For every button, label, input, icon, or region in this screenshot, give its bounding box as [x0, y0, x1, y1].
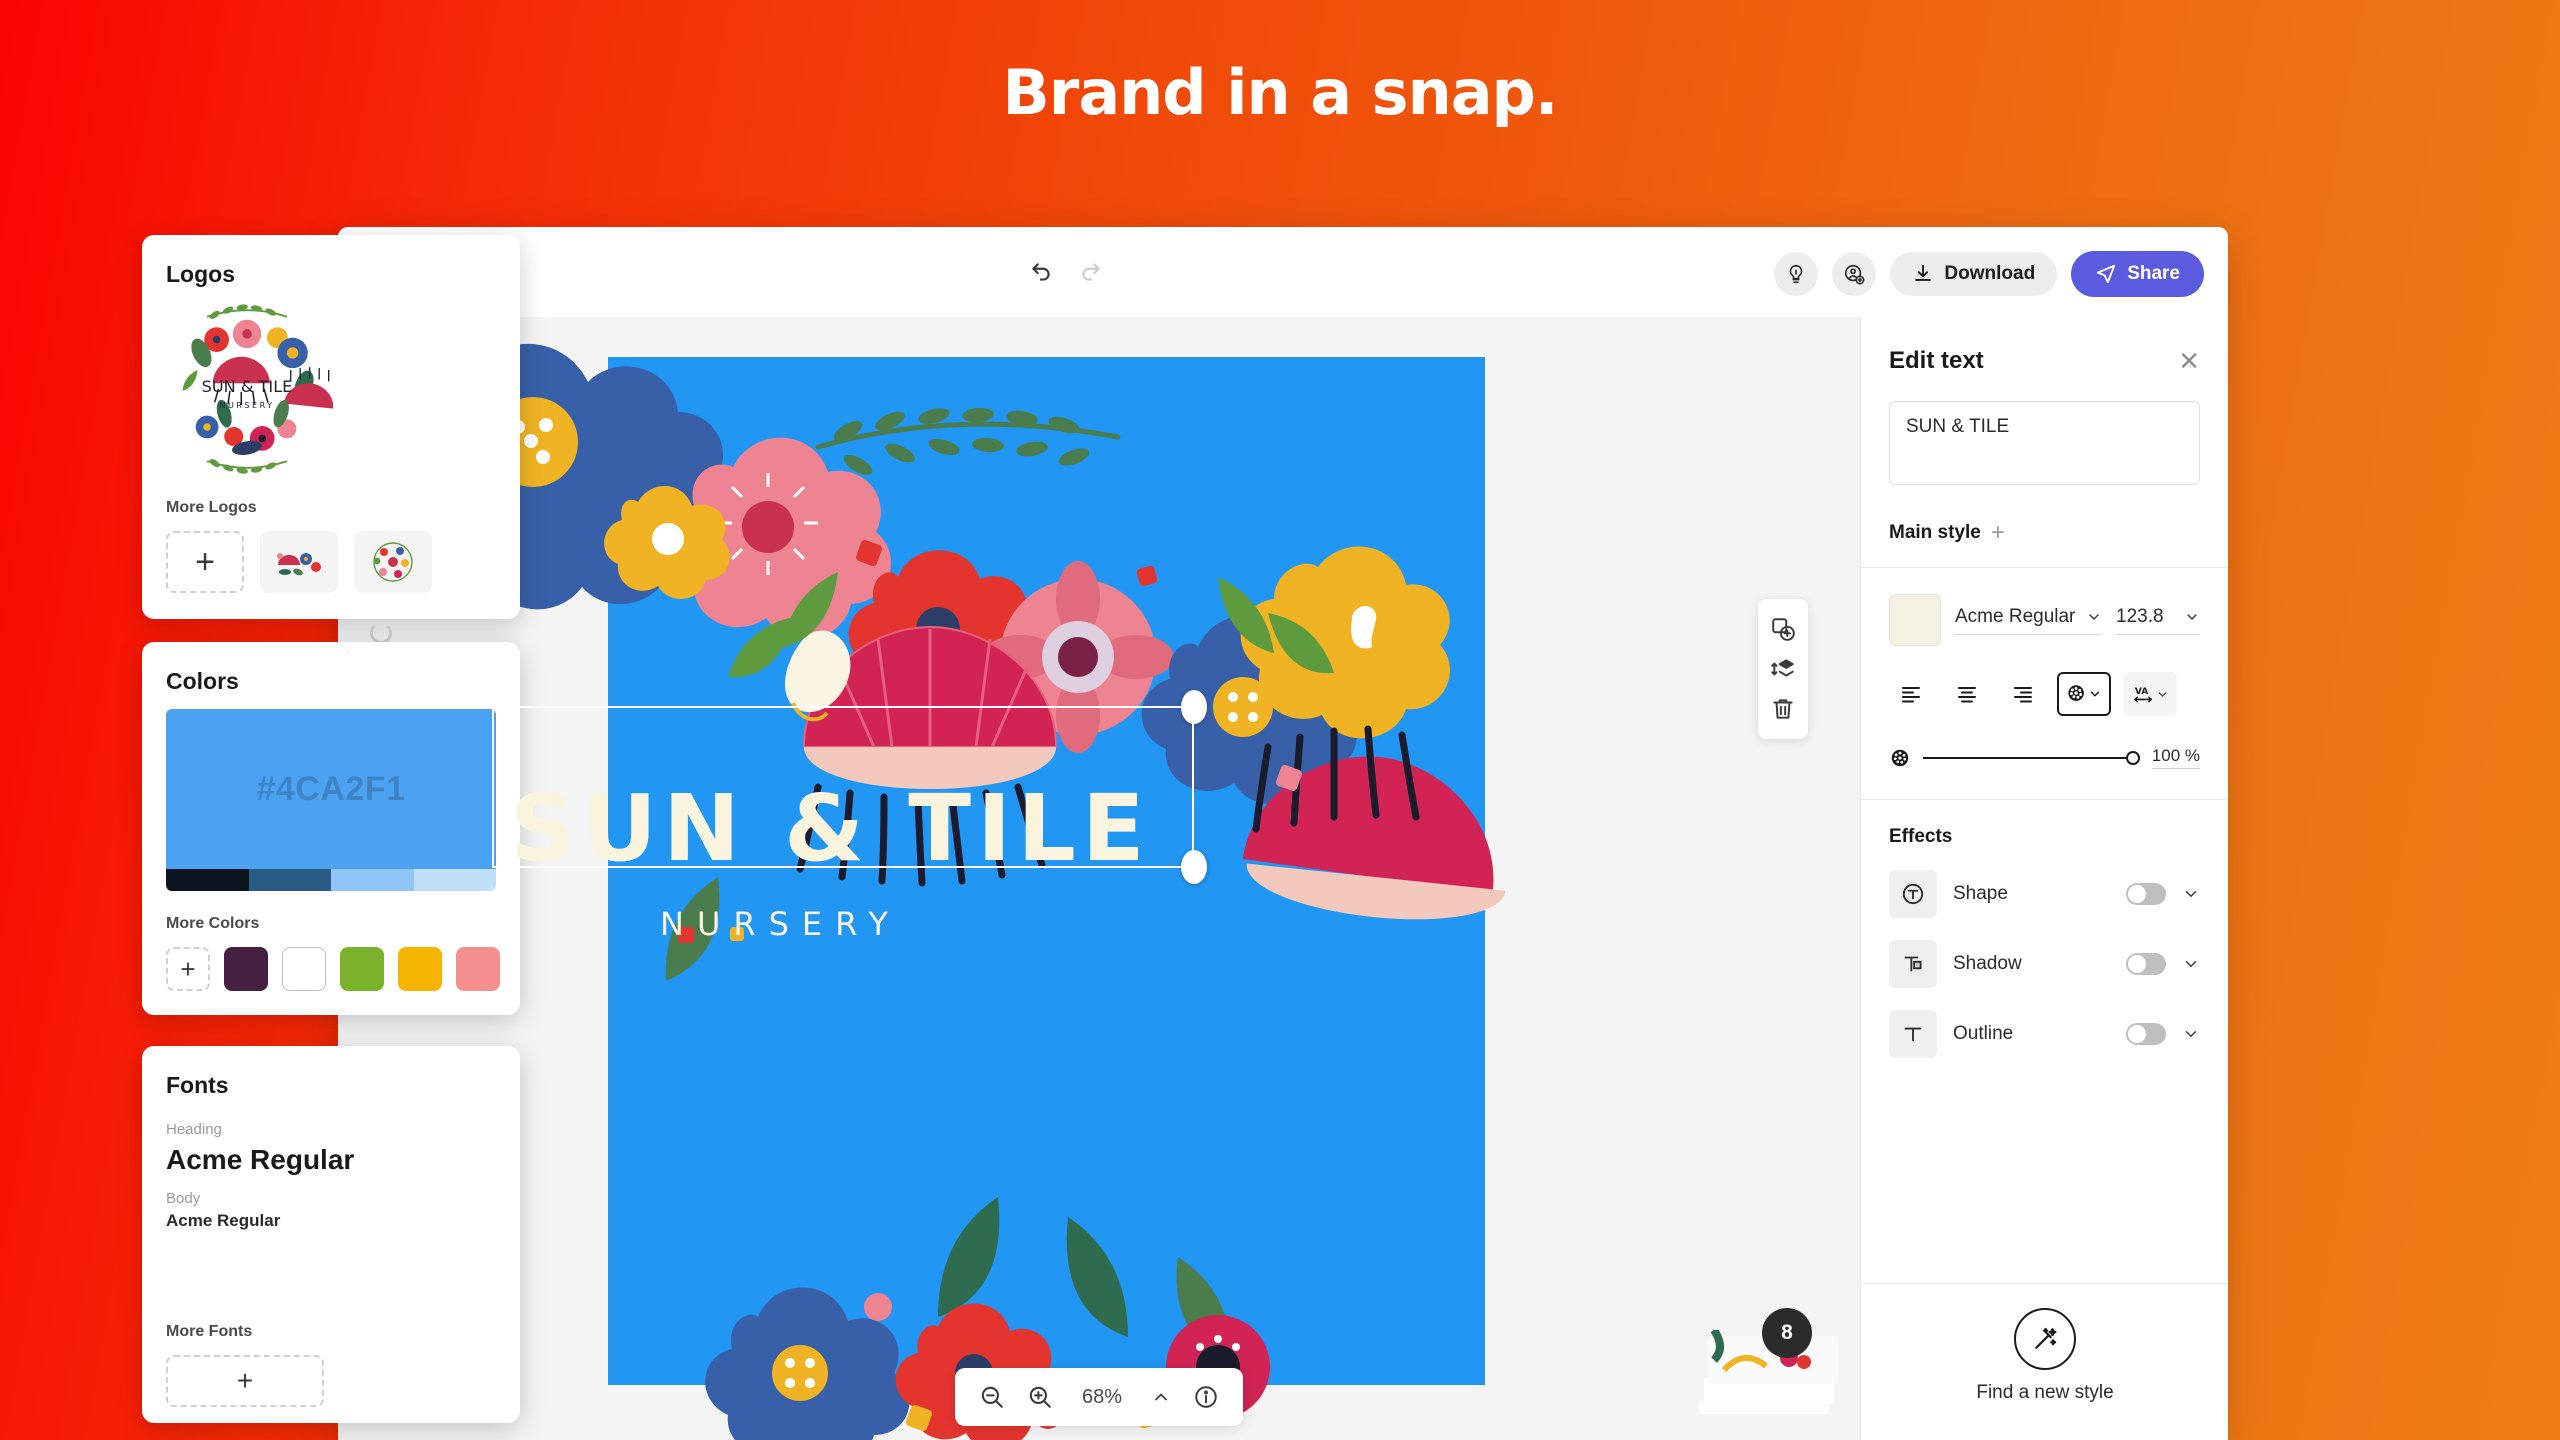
chevron-down-icon	[2088, 687, 2102, 701]
shape-text-icon	[1889, 870, 1937, 918]
panel-title: Edit text	[1889, 347, 1984, 375]
logo-preview[interactable]: SUN & TILE NURSERY	[142, 294, 352, 484]
primary-color-hex: #4CA2F1	[256, 770, 405, 809]
opacity-icon	[1889, 747, 1911, 769]
effect-row-shadow: Shadow	[1889, 940, 2200, 988]
add-logo-button[interactable]: +	[166, 531, 244, 593]
align-right-button[interactable]	[2001, 672, 2045, 716]
add-person-icon	[1843, 263, 1865, 285]
plus-icon: +	[237, 1367, 253, 1395]
magic-wand-icon	[2014, 1308, 2076, 1370]
more-logos-label: More Logos	[142, 489, 520, 517]
fonts-card-title: Fonts	[142, 1046, 520, 1099]
plus-icon: +	[180, 956, 195, 982]
download-icon	[1912, 263, 1934, 285]
font-row: Acme Regular 123.8	[1889, 594, 2200, 646]
chevron-down-icon	[2184, 609, 2200, 625]
duplicate-icon[interactable]	[1770, 616, 1796, 642]
align-right-icon	[2011, 682, 2035, 706]
body-label: Body	[142, 1176, 520, 1207]
chevron-down-icon	[2086, 609, 2102, 625]
page-count-badge[interactable]: 8	[1762, 1308, 1812, 1358]
ramp-segment-3[interactable]	[331, 869, 414, 891]
logo-variant-1[interactable]	[260, 531, 338, 593]
color-swatch-1[interactable]	[224, 947, 268, 991]
main-style-row: Main style +	[1861, 485, 2228, 567]
effect-row-outline: Outline	[1889, 1010, 2200, 1058]
plus-icon: +	[195, 545, 215, 579]
ramp-segment-2[interactable]	[249, 869, 332, 891]
chevron-down-icon[interactable]	[2182, 885, 2200, 903]
color-swatch-3[interactable]	[340, 947, 384, 991]
ramp-segment-1[interactable]	[166, 869, 249, 891]
topbar-actions: Download Share	[1774, 251, 2204, 297]
app-window: Download Share	[338, 227, 2228, 1440]
object-toolbar	[1758, 599, 1808, 739]
opacity-slider-knob[interactable]	[2126, 751, 2140, 765]
opacity-slider[interactable]	[1923, 757, 2140, 759]
colors-card-title: Colors	[142, 642, 520, 695]
fonts-card: Fonts Heading Acme Regular Body Acme Reg…	[142, 1046, 520, 1423]
edit-text-panel: Edit text ✕ SUN & TILE Main style + Acme…	[1860, 317, 2228, 1440]
body-font-name[interactable]: Acme Regular	[142, 1207, 520, 1231]
chevron-up-icon[interactable]	[1151, 1387, 1171, 1407]
color-swatch-5[interactable]	[456, 947, 500, 991]
color-swatch-4[interactable]	[398, 947, 442, 991]
main-style-label: Main style	[1889, 522, 1981, 544]
font-family-select[interactable]: Acme Regular	[1955, 606, 2102, 635]
effects-section: Effects Shape Shadow	[1861, 799, 2228, 1058]
undo-icon[interactable]	[1028, 259, 1054, 285]
align-left-button[interactable]	[1889, 672, 1933, 716]
zoom-in-icon[interactable]	[1027, 1384, 1053, 1410]
font-size-select[interactable]: 123.8	[2116, 606, 2200, 635]
logo-variant-2-thumb	[370, 541, 416, 583]
heading-font-name[interactable]: Acme Regular	[142, 1138, 520, 1176]
chevron-down-icon	[2156, 688, 2169, 701]
font-size-value: 123.8	[2116, 606, 2164, 628]
effects-title: Effects	[1889, 826, 2200, 848]
opacity-row: 100 %	[1889, 746, 2200, 769]
artboard-artwork	[338, 317, 1860, 1440]
close-icon[interactable]: ✕	[2178, 348, 2200, 374]
download-button[interactable]: Download	[1890, 252, 2057, 296]
ideas-button[interactable]	[1774, 252, 1818, 296]
svg-text:NURSERY: NURSERY	[219, 401, 274, 410]
texture-fill-button[interactable]	[2057, 672, 2111, 716]
logos-card: Logos	[142, 235, 520, 619]
canvas-area[interactable]: 8 68%	[338, 317, 1860, 1440]
loading-spinner	[370, 622, 392, 644]
texture-fill-icon	[2066, 683, 2088, 705]
lightbulb-icon	[1785, 263, 1807, 285]
svg-text:SUN & TILE: SUN & TILE	[202, 377, 293, 396]
zoom-out-icon[interactable]	[979, 1384, 1005, 1410]
redo-icon[interactable]	[1078, 259, 1104, 285]
color-ramp	[166, 869, 496, 891]
colors-card: Colors #4CA2F1 More Colors +	[142, 642, 520, 1015]
ramp-segment-4[interactable]	[414, 869, 497, 891]
find-new-style-button[interactable]: Find a new style	[1861, 1283, 2228, 1440]
svg-text:VA: VA	[2134, 687, 2147, 697]
more-fonts-label: More Fonts	[142, 1231, 520, 1341]
info-icon[interactable]	[1193, 1384, 1219, 1410]
arrange-layers-icon[interactable]	[1770, 656, 1796, 682]
effect-label: Outline	[1953, 1023, 2110, 1045]
effect-label: Shape	[1953, 883, 2110, 905]
shadow-text-icon	[1889, 940, 1937, 988]
font-family-value: Acme Regular	[1955, 606, 2075, 628]
logo-variant-1-thumb	[272, 545, 326, 579]
plus-icon[interactable]: +	[1991, 521, 2005, 545]
chevron-down-icon[interactable]	[2182, 1025, 2200, 1043]
logo-variant-2[interactable]	[354, 531, 432, 593]
more-colors-row: +	[142, 933, 520, 991]
effect-toggle-shadow[interactable]	[2126, 953, 2166, 975]
effect-row-shape: Shape	[1889, 870, 2200, 918]
add-collaborator-button[interactable]	[1832, 252, 1876, 296]
align-center-button[interactable]	[1945, 672, 1989, 716]
share-label: Share	[2127, 263, 2180, 285]
opacity-value[interactable]: 100 %	[2152, 746, 2200, 769]
send-icon	[2095, 263, 2117, 285]
zoom-level-value[interactable]: 68%	[1075, 1386, 1129, 1409]
logos-card-title: Logos	[142, 235, 520, 288]
more-logos-row: +	[142, 517, 520, 593]
align-center-icon	[1955, 682, 1979, 706]
selection-overlay	[338, 317, 1860, 1440]
outline-text-icon	[1889, 1010, 1937, 1058]
more-colors-label: More Colors	[142, 891, 520, 933]
find-new-style-label: Find a new style	[1976, 1382, 2113, 1404]
effect-toggle-outline[interactable]	[2126, 1023, 2166, 1045]
color-swatch-2[interactable]	[282, 947, 326, 991]
effect-label: Shadow	[1953, 953, 2110, 975]
text-input[interactable]: SUN & TILE	[1889, 401, 2200, 485]
alignment-row: VA	[1889, 672, 2200, 716]
letter-spacing-button[interactable]: VA	[2123, 672, 2177, 716]
page-title: Brand in a snap.	[0, 56, 2560, 129]
chevron-down-icon[interactable]	[2182, 955, 2200, 973]
panel-header: Edit text ✕	[1861, 317, 2228, 375]
selection-handle-top-right[interactable]	[1181, 690, 1207, 724]
selection-handle-bottom-right[interactable]	[1181, 850, 1207, 884]
style-section: Acme Regular 123.8	[1861, 567, 2228, 769]
add-color-button[interactable]: +	[166, 947, 210, 991]
heading-label: Heading	[142, 1099, 520, 1138]
align-left-icon	[1899, 682, 1923, 706]
app-toolbar: Download Share	[338, 227, 2228, 317]
primary-color-swatch[interactable]: #4CA2F1	[166, 709, 496, 869]
download-label: Download	[1944, 263, 2035, 285]
undo-redo-group	[1028, 259, 1104, 285]
trash-icon[interactable]	[1770, 696, 1796, 722]
zoom-controls: 68%	[955, 1368, 1243, 1426]
font-color-swatch[interactable]	[1889, 594, 1941, 646]
letter-spacing-icon: VA	[2132, 684, 2156, 704]
effect-toggle-shape[interactable]	[2126, 883, 2166, 905]
add-font-button[interactable]: +	[166, 1355, 324, 1407]
share-button[interactable]: Share	[2071, 251, 2204, 297]
